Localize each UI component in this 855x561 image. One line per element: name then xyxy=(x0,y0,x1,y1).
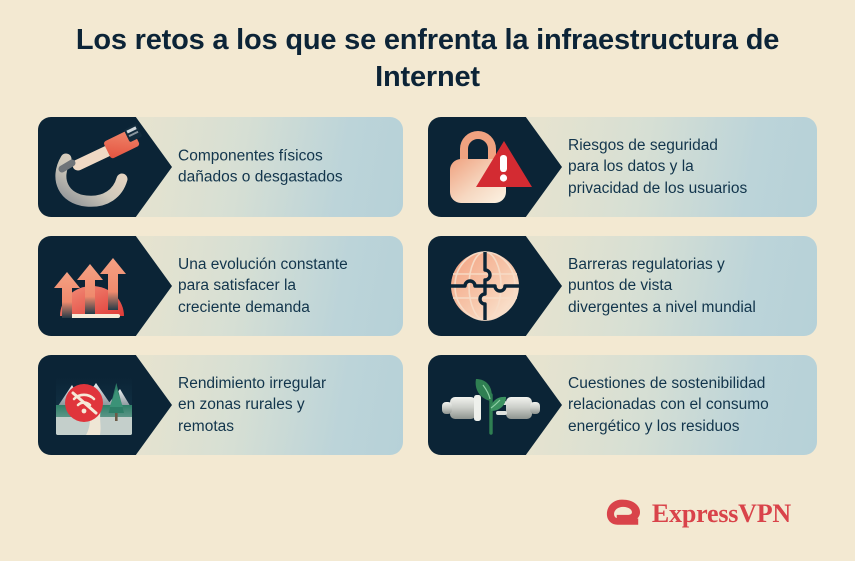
card-damaged-components[interactable]: Componentes físicos dañados o desgastado… xyxy=(38,117,403,217)
card-text-line: privacidad de los usuarios xyxy=(568,178,807,199)
card-text-line: Rendimiento irregular xyxy=(178,373,391,394)
infographic-page: Los retos a los que se enfrenta la infra… xyxy=(0,0,855,561)
grid-row: Componentes físicos dañados o desgastado… xyxy=(38,117,817,217)
card-text-line: para satisfacer la xyxy=(178,275,391,296)
card-security-risks[interactable]: Riesgos de seguridad para los datos y la… xyxy=(428,117,817,217)
challenges-grid: Componentes físicos dañados o desgastado… xyxy=(38,117,817,474)
card-constant-evolution[interactable]: Una evolución constante para satisfacer … xyxy=(38,236,403,336)
card-text-line: dañados o desgastados xyxy=(178,167,391,188)
card-text-line: divergentes a nivel mundial xyxy=(568,297,807,318)
card-rural-performance[interactable]: Rendimiento irregular en zonas rurales y… xyxy=(38,355,403,455)
card-text-line: Componentes físicos xyxy=(178,146,391,167)
card-text-line: Barreras regulatorias y xyxy=(568,254,807,275)
card-text-line: Cuestiones de sostenibilidad xyxy=(568,373,807,394)
title-line-1: Los retos a los que se enfrenta la infra… xyxy=(76,24,738,56)
card-text-line: puntos de vista xyxy=(568,275,807,296)
card-text-line: en zonas rurales y xyxy=(178,394,391,415)
card-text-line: energético y los residuos xyxy=(568,416,807,437)
card-text-line: creciente demanda xyxy=(178,297,391,318)
card-text-line: Una evolución constante xyxy=(178,254,391,275)
page-title: Los retos a los que se enfrenta la infra… xyxy=(60,22,795,96)
card-text-line: para los datos y la xyxy=(568,156,807,177)
card-text: Componentes físicos dañados o desgastado… xyxy=(178,146,391,189)
expressvpn-mark-icon xyxy=(604,497,642,531)
card-text: Barreras regulatorias y puntos de vista … xyxy=(568,254,807,318)
grid-row: Rendimiento irregular en zonas rurales y… xyxy=(38,355,817,455)
card-text-line: remotas xyxy=(178,416,391,437)
card-text: Cuestiones de sostenibilidad relacionada… xyxy=(568,373,807,437)
card-text: Rendimiento irregular en zonas rurales y… xyxy=(178,373,391,437)
card-text-line: Riesgos de seguridad xyxy=(568,135,807,156)
card-sustainability[interactable]: Cuestiones de sostenibilidad relacionada… xyxy=(428,355,817,455)
grid-row: Una evolución constante para satisfacer … xyxy=(38,236,817,336)
expressvpn-wordmark: ExpressVPN xyxy=(652,499,791,529)
card-regulatory-barriers[interactable]: Barreras regulatorias y puntos de vista … xyxy=(428,236,817,336)
card-text: Riesgos de seguridad para los datos y la… xyxy=(568,135,807,199)
card-text: Una evolución constante para satisfacer … xyxy=(178,254,391,318)
card-text-line: relacionadas con el consumo xyxy=(568,394,807,415)
expressvpn-logo[interactable]: ExpressVPN xyxy=(604,497,791,531)
